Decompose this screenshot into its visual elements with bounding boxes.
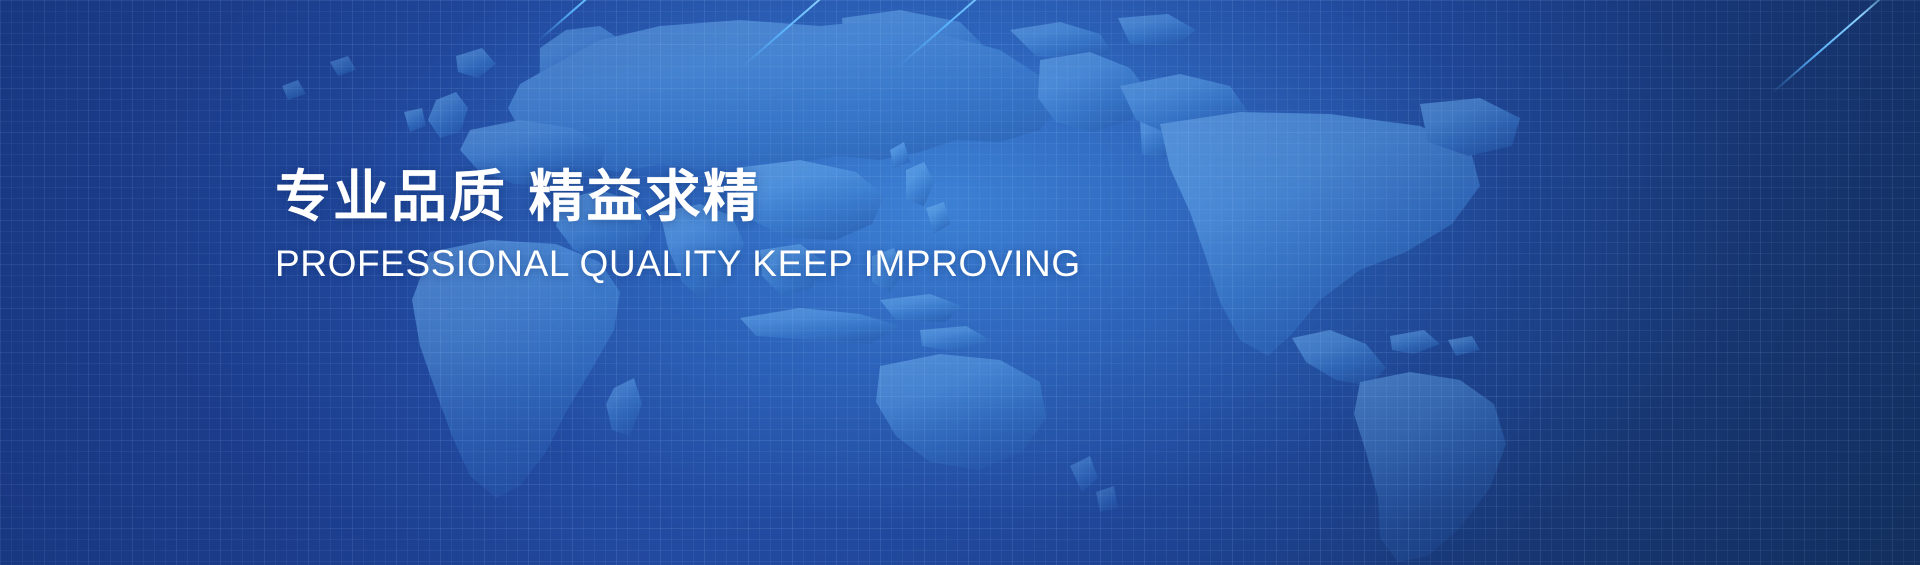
subheadline-english: PROFESSIONAL QUALITY KEEP IMPROVING [275,244,1081,285]
hero-banner: 专业品质 精益求精 PROFESSIONAL QUALITY KEEP IMPR… [0,0,1920,565]
headline-chinese: 专业品质 精益求精 [275,168,1081,228]
slogan-block: 专业品质 精益求精 PROFESSIONAL QUALITY KEEP IMPR… [275,168,1081,285]
